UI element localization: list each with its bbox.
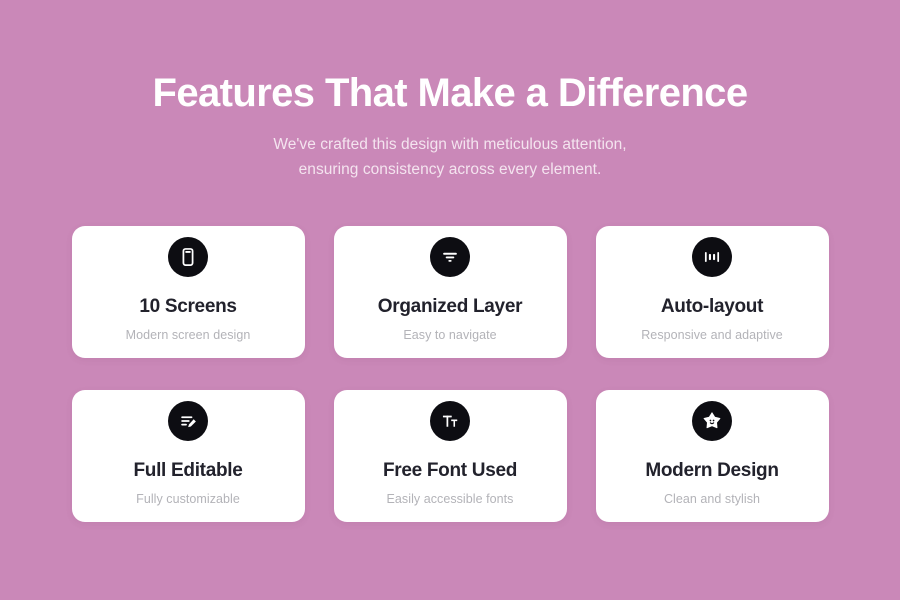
feature-card-title: Auto-layout [661,296,763,319]
feature-card-description: Easy to navigate [403,327,496,343]
page-header: Features That Make a Difference We've cr… [0,0,900,182]
feature-card-title: Free Font Used [383,460,517,483]
page-title: Features That Make a Difference [0,70,900,116]
feature-card-title: Modern Design [645,460,778,483]
star-smiley-icon [692,401,732,441]
feature-card-title: 10 Screens [139,296,236,319]
feature-card-title: Organized Layer [378,296,522,319]
filter-funnel-icon [430,237,470,277]
mobile-phone-icon [168,237,208,277]
feature-card-full-editable[interactable]: Full Editable Fully customizable [72,390,305,522]
feature-card-10-screens[interactable]: 10 Screens Modern screen design [72,226,305,358]
feature-card-description: Clean and stylish [664,491,760,507]
feature-card-modern-design[interactable]: Modern Design Clean and stylish [596,390,829,522]
feature-card-description: Modern screen design [126,327,251,343]
feature-card-description: Fully customizable [136,491,240,507]
feature-card-description: Easily accessible fonts [387,491,514,507]
features-page: Features That Make a Difference We've cr… [0,0,900,600]
page-subtitle-line-1: We've crafted this design with meticulou… [0,132,900,157]
feature-card-auto-layout[interactable]: Auto-layout Responsive and adaptive [596,226,829,358]
feature-card-description: Responsive and adaptive [641,327,783,343]
feature-card-free-font-used[interactable]: Free Font Used Easily accessible fonts [334,390,567,522]
feature-card-title: Full Editable [133,460,242,483]
typography-tt-icon [430,401,470,441]
feature-card-organized-layer[interactable]: Organized Layer Easy to navigate [334,226,567,358]
edit-pencil-lines-icon [168,401,208,441]
auto-layout-bars-icon [692,237,732,277]
features-grid: 10 Screens Modern screen design Organize… [72,226,829,522]
page-subtitle-line-2: ensuring consistency across every elemen… [0,157,900,182]
page-subtitle: We've crafted this design with meticulou… [0,132,900,182]
